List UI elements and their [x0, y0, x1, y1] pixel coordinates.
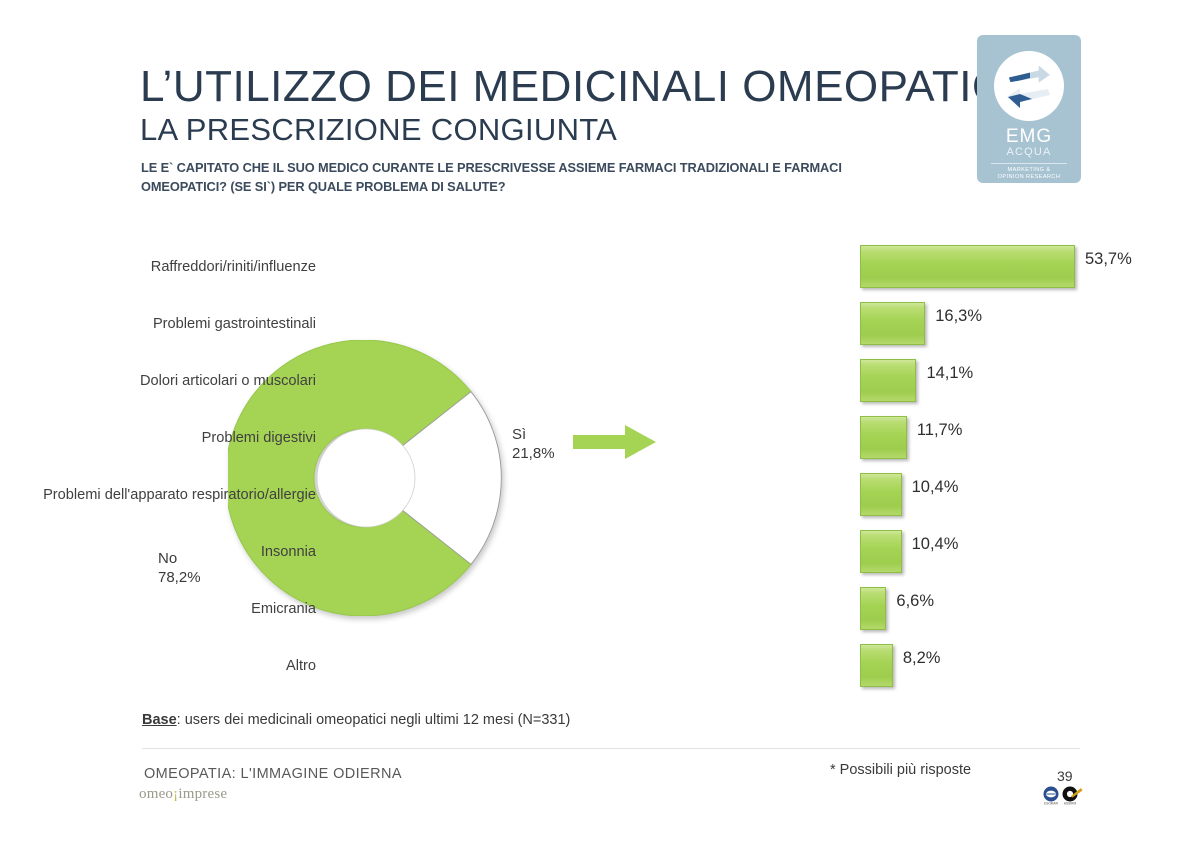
bar-category-label: Altro — [286, 637, 316, 694]
base-label: Base — [142, 712, 177, 728]
bar-fill — [860, 530, 902, 573]
bar-track — [860, 302, 925, 345]
bar-row: Problemi gastrointestinali16,3% — [0, 295, 1200, 352]
emg-logo-name: EMG — [977, 127, 1081, 146]
page-subtitle: LA PRESCRIZIONE CONGIUNTA — [140, 112, 617, 148]
assirm-badge-icon: ASSIRM — [1063, 787, 1083, 806]
esomar-badge-icon: ESOMAR — [1044, 787, 1059, 806]
omeoimprese-part-b: imprese — [178, 786, 227, 802]
bar-value-label: 6,6% — [896, 580, 934, 623]
bar-track — [860, 587, 886, 630]
bar-fill — [860, 644, 893, 687]
emg-mark-icon — [994, 51, 1064, 121]
bar-fill — [860, 302, 925, 345]
arrow-right-icon — [573, 424, 657, 460]
donut-chart — [228, 340, 504, 616]
donut-label-no: No 78,2% — [158, 549, 201, 587]
bar-fill — [860, 473, 902, 516]
footer-divider — [142, 748, 1080, 749]
bar-value-label: 11,7% — [917, 409, 963, 452]
slide-root: L’UTILIZZO DEI MEDICINALI OMEOPATICI LA … — [0, 0, 1200, 849]
emg-logo-divider — [991, 163, 1067, 164]
bar-value-label: 53,7% — [1085, 238, 1132, 281]
multiple-answers-note: * Possibili più risposte — [830, 762, 971, 778]
bar-value-label: 16,3% — [935, 295, 982, 338]
svg-text:ESOMAR: ESOMAR — [1044, 802, 1059, 806]
bar-track — [860, 245, 1075, 288]
survey-question: LE E` CAPITATO CHE IL SUO MEDICO CURANTE… — [141, 158, 878, 196]
certification-badges: ESOMAR ASSIRM — [1041, 786, 1087, 806]
bar-track — [860, 359, 916, 402]
emg-logo: EMG ACQUA MARKETING & OPINION RESEARCH — [977, 35, 1081, 183]
deck-title: OMEOPATIA: L'IMMAGINE ODIERNA — [144, 766, 402, 782]
bar-track — [860, 416, 907, 459]
omeoimprese-logo: omeo¡imprese — [139, 786, 227, 803]
bar-fill — [860, 416, 907, 459]
emg-logo-sub: ACQUA — [977, 146, 1081, 158]
bar-track — [860, 530, 902, 573]
base-text: : users dei medicinali omeopatici negli … — [177, 712, 571, 728]
bar-value-label: 14,1% — [926, 352, 973, 395]
omeoimprese-part-a: omeo — [139, 786, 173, 802]
donut-chart-svg — [228, 340, 504, 616]
bar-track — [860, 644, 893, 687]
bar-fill — [860, 359, 916, 402]
donut-label-no-text: No — [158, 549, 201, 568]
bar-fill — [860, 587, 886, 630]
bar-row: Altro8,2% — [0, 637, 1200, 694]
svg-text:ASSIRM: ASSIRM — [1064, 802, 1077, 806]
bar-value-label: 10,4% — [912, 523, 959, 566]
bar-row: Dolori articolari o muscolari14,1% — [0, 352, 1200, 409]
bar-row: Problemi dell'apparato respiratorio/alle… — [0, 466, 1200, 523]
base-note: Base: users dei medicinali omeopatici ne… — [142, 712, 570, 728]
bar-row: Raffreddori/riniti/influenze53,7% — [0, 238, 1200, 295]
bar-category-label: Raffreddori/riniti/influenze — [151, 238, 316, 295]
page-title: L’UTILIZZO DEI MEDICINALI OMEOPATICI — [140, 62, 1017, 112]
page-number: 39 — [1057, 768, 1073, 784]
donut-label-si-text: Sì — [512, 425, 555, 444]
bar-row: Emicrania6,6% — [0, 580, 1200, 637]
bar-value-label: 10,4% — [912, 466, 959, 509]
emg-logo-tagline: MARKETING & OPINION RESEARCH — [977, 167, 1081, 182]
bar-track — [860, 473, 902, 516]
bar-value-label: 8,2% — [903, 637, 941, 680]
donut-label-si-value: 21,8% — [512, 444, 555, 463]
donut-label-si: Sì 21,8% — [512, 425, 555, 463]
donut-label-no-value: 78,2% — [158, 568, 201, 587]
bar-fill — [860, 245, 1075, 288]
